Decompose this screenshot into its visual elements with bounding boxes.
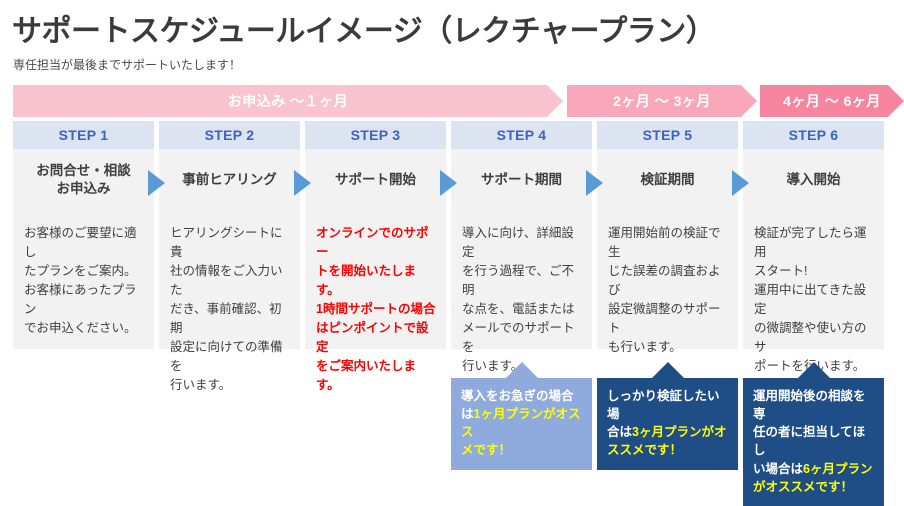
step-title-3: サポート開始	[335, 171, 416, 189]
callout-highlight-1: 1ヶ月プランがオスス メです！	[461, 407, 580, 457]
step-column-4: STEP 4サポート期間導入に向け、詳細設定 を行う過程で、ご不明 な点を、電話…	[451, 121, 592, 349]
callout-pointer-up-icon-3	[798, 362, 830, 378]
step-arrow-icon-3	[440, 170, 457, 196]
step-column-6: STEP 6導入開始検証が完了したら運用 スタート! 運用中に出てきた設定 の微…	[743, 121, 884, 349]
step-description-box-5: 運用開始前の検証で生 じた誤差の調査および 設定微調整のサポート も行います。	[597, 211, 738, 349]
step-header-4: STEP 4	[451, 121, 592, 149]
step-column-5: STEP 5検証期間運用開始前の検証で生 じた誤差の調査および 設定微調整のサポ…	[597, 121, 738, 349]
callout-body-2: しっかり検証したい場 合は3ヶ月プランがオ ススメです！	[597, 378, 738, 470]
phase-banner-1: お申込み ～１ヶ月	[13, 85, 563, 117]
step-column-1: STEP 1お問合せ・相談 お申込みお客様のご要望に適し たプランをご案内。 お…	[13, 121, 154, 349]
step-title-2: 事前ヒアリング	[182, 171, 277, 189]
page-subtitle: 専任担当が最後までサポートいたします！	[13, 56, 241, 73]
step-description-4: 導入に向け、詳細設定 を行う過程で、ご不明 な点を、電話または メールでのサポー…	[462, 224, 582, 376]
callout-3: 運用開始後の相談を専 任の者に担当してほし い場合は6ヶ月プラン がオススメです…	[743, 362, 884, 506]
step-description-box-3: オンラインでのサポー トを開始いたします。 1時間サポートの場合 はピンポイント…	[305, 211, 446, 349]
step-title-box-6: 導入開始	[743, 149, 884, 211]
step-header-6: STEP 6	[743, 121, 884, 149]
callout-body-1: 導入をお急ぎの場合は1ヶ月プランがオスス メです！	[451, 378, 592, 470]
step-description-3: オンラインでのサポー トを開始いたします。 1時間サポートの場合 はピンポイント…	[316, 224, 436, 395]
step-arrow-icon-4	[586, 170, 603, 196]
step-description-5: 運用開始前の検証で生 じた誤差の調査および 設定微調整のサポート も行います。	[608, 224, 728, 357]
page-title: サポートスケジュールイメージ（レクチャープラン）	[12, 6, 715, 50]
step-title-box-3: サポート開始	[305, 149, 446, 211]
callout-1: 導入をお急ぎの場合は1ヶ月プランがオスス メです！	[451, 362, 592, 470]
step-description-1: お客様のご要望に適し たプランをご案内。 お客様にあったプラン でお申込ください…	[24, 224, 144, 338]
step-header-5: STEP 5	[597, 121, 738, 149]
step-title-1: お問合せ・相談 お申込み	[36, 162, 131, 198]
phase-banner-2: 2ヶ月 ～ 3ヶ月	[567, 85, 757, 117]
phase-banner-label: お申込み ～１ヶ月	[228, 91, 348, 111]
step-arrow-icon-1	[148, 170, 165, 196]
phase-banner-label: 2ヶ月 ～ 3ヶ月	[613, 91, 711, 111]
step-header-1: STEP 1	[13, 121, 154, 149]
step-title-box-2: 事前ヒアリング	[159, 149, 300, 211]
step-description-box-4: 導入に向け、詳細設定 を行う過程で、ご不明 な点を、電話または メールでのサポー…	[451, 211, 592, 349]
step-title-5: 検証期間	[641, 171, 695, 189]
callout-text-3: 運用開始後の相談を専 任の者に担当してほし い場合は6ヶ月プラン がオススメです…	[753, 387, 875, 496]
step-description-box-1: お客様のご要望に適し たプランをご案内。 お客様にあったプラン でお申込ください…	[13, 211, 154, 349]
step-column-2: STEP 2事前ヒアリングヒアリングシートに貴 社の情報をご入力いた だき、事前…	[159, 121, 300, 349]
step-description-6: 検証が完了したら運用 スタート! 運用中に出てきた設定 の微調整や使い方のサ ポ…	[754, 224, 874, 376]
step-title-4: サポート期間	[481, 171, 562, 189]
step-title-box-1: お問合せ・相談 お申込み	[13, 149, 154, 211]
step-column-3: STEP 3サポート開始オンラインでのサポー トを開始いたします。 1時間サポー…	[305, 121, 446, 349]
step-arrow-icon-2	[294, 170, 311, 196]
phase-banner-3: 4ヶ月 ～ 6ヶ月	[760, 85, 904, 117]
step-title-box-5: 検証期間	[597, 149, 738, 211]
phase-banner-row: お申込み ～１ヶ月2ヶ月 ～ 3ヶ月4ヶ月 ～ 6ヶ月	[0, 85, 904, 117]
step-title-box-4: サポート期間	[451, 149, 592, 211]
phase-banner-label: 4ヶ月 ～ 6ヶ月	[783, 91, 881, 111]
step-description-2: ヒアリングシートに貴 社の情報をご入力いた だき、事前確認、初期 設定に向けての…	[170, 224, 290, 395]
callout-text-1: 導入をお急ぎの場合は1ヶ月プランがオスス メです！	[461, 387, 583, 460]
callout-pointer-up-icon-1	[506, 362, 538, 378]
step-header-2: STEP 2	[159, 121, 300, 149]
step-description-box-2: ヒアリングシートに貴 社の情報をご入力いた だき、事前確認、初期 設定に向けての…	[159, 211, 300, 349]
step-header-3: STEP 3	[305, 121, 446, 149]
callout-2: しっかり検証したい場 合は3ヶ月プランがオ ススメです！	[597, 362, 738, 470]
callout-body-3: 運用開始後の相談を専 任の者に担当してほし い場合は6ヶ月プラン がオススメです…	[743, 378, 884, 506]
step-description-box-6: 検証が完了したら運用 スタート! 運用中に出てきた設定 の微調整や使い方のサ ポ…	[743, 211, 884, 349]
step-title-6: 導入開始	[787, 171, 841, 189]
callout-pointer-up-icon-2	[652, 362, 684, 378]
callout-text-2: しっかり検証したい場 合は3ヶ月プランがオ ススメです！	[607, 387, 729, 460]
step-arrow-icon-5	[732, 170, 749, 196]
